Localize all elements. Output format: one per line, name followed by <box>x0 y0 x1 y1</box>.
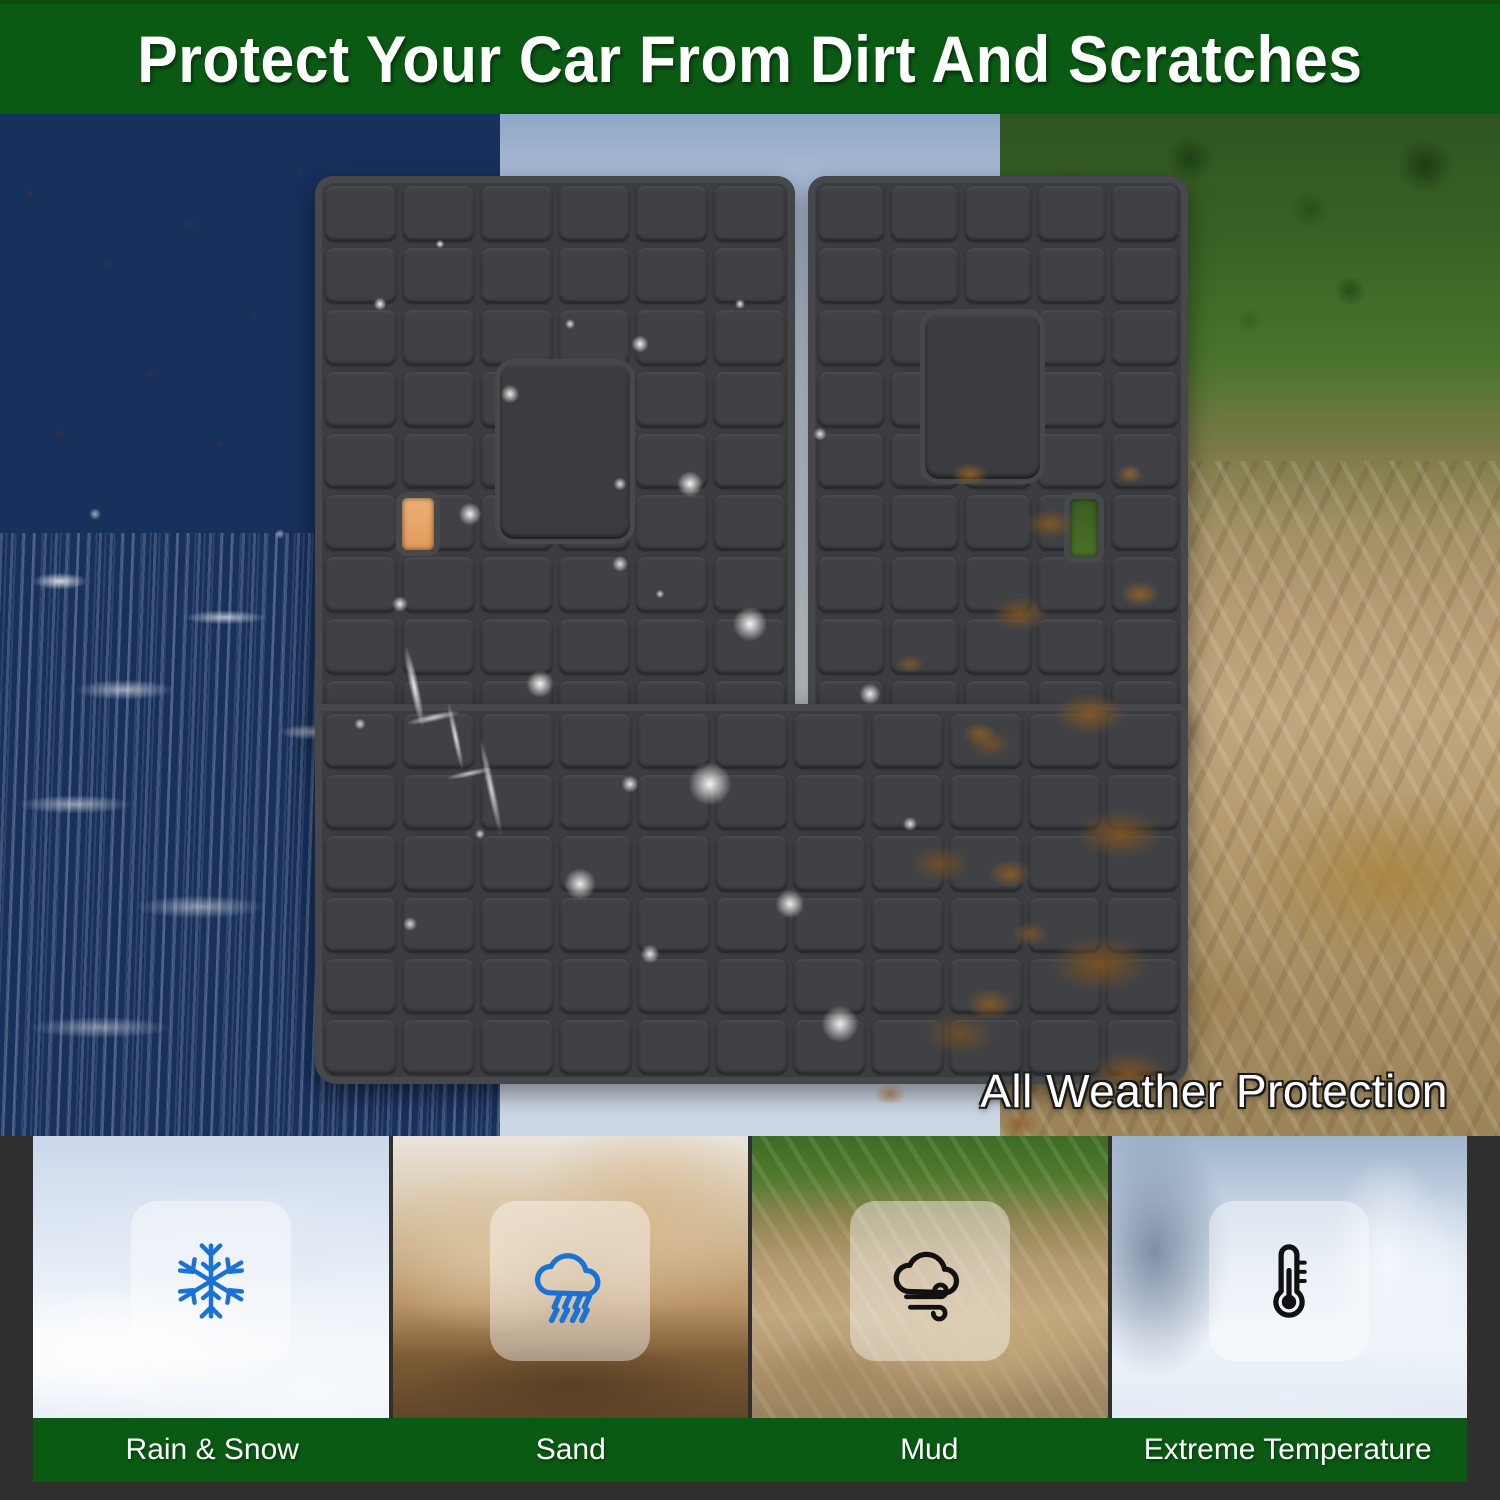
thermometer-icon <box>1247 1239 1331 1323</box>
mat-cutout-right <box>1070 499 1098 557</box>
snowflake-icon <box>169 1239 253 1323</box>
icon-tile-extreme-temperature <box>1209 1201 1369 1361</box>
icon-tile-sand <box>490 1201 650 1361</box>
hero-section: All Weather Protection <box>0 114 1500 1136</box>
page-title: Protect Your Car From Dirt And Scratches <box>137 26 1362 92</box>
mat-center-pad-right <box>925 314 1040 479</box>
feature-label-bar: Rain & Snow Sand Mud Extreme Temperature <box>33 1418 1467 1482</box>
feature-label-extreme-temperature: Extreme Temperature <box>1109 1418 1468 1482</box>
header-banner: Protect Your Car From Dirt And Scratches <box>0 0 1500 114</box>
icon-tile-mud <box>850 1201 1010 1361</box>
product-poster: Protect Your Car From Dirt And Scratches <box>0 0 1500 1500</box>
feature-label-mud: Mud <box>750 1418 1109 1482</box>
wind-cloud-icon <box>888 1239 972 1323</box>
product-image <box>0 114 1500 1136</box>
feature-extreme-temperature[interactable] <box>1112 1136 1468 1426</box>
mat-center-pad-left <box>500 364 630 539</box>
rain-cloud-icon <box>528 1239 612 1323</box>
icon-tile-rain-snow <box>131 1201 291 1361</box>
feature-label-sand: Sand <box>392 1418 751 1482</box>
feature-mud[interactable] <box>752 1136 1108 1426</box>
hero-caption: All Weather Protection <box>980 1064 1448 1118</box>
feature-rain-snow[interactable] <box>33 1136 389 1426</box>
feature-label-rain-snow: Rain & Snow <box>33 1418 392 1482</box>
feature-strip <box>33 1136 1467 1426</box>
mat-cutout-left <box>402 498 434 550</box>
feature-sand[interactable] <box>393 1136 749 1426</box>
